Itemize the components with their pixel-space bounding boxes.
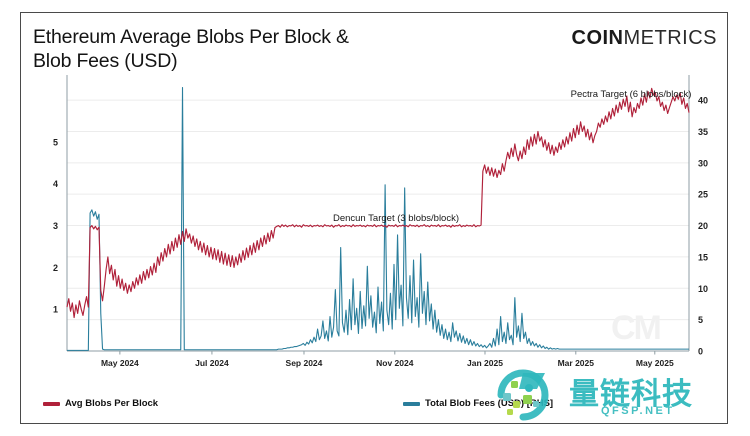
svg-text:5: 5 bbox=[698, 315, 703, 325]
line-chart: 12345 0510152025303540 May 2024Jul 2024S… bbox=[21, 69, 727, 381]
svg-text:20: 20 bbox=[698, 221, 708, 231]
plot-area: 12345 0510152025303540 May 2024Jul 2024S… bbox=[21, 69, 727, 381]
chart-legend: Avg Blobs Per Block Total Blob Fees (USD… bbox=[21, 397, 727, 417]
svg-text:35: 35 bbox=[698, 127, 708, 137]
legend-item-blob-fees[interactable]: Total Blob Fees (USD) [RHS] bbox=[403, 398, 553, 409]
svg-text:Nov 2024: Nov 2024 bbox=[376, 358, 414, 368]
svg-text:Jul 2024: Jul 2024 bbox=[195, 358, 229, 368]
svg-text:2: 2 bbox=[53, 263, 58, 273]
page-title: Ethereum Average Blobs Per Block & Blob … bbox=[33, 25, 463, 73]
svg-text:1: 1 bbox=[53, 305, 58, 315]
svg-text:Pectra Target (6 blobs/block): Pectra Target (6 blobs/block) bbox=[571, 89, 692, 100]
x-axis-ticks: May 2024Jul 2024Sep 2024Nov 2024Jan 2025… bbox=[101, 351, 674, 368]
chart-annotations: Dencun Target (3 blobs/block)Pectra Targ… bbox=[333, 89, 691, 224]
svg-text:25: 25 bbox=[698, 190, 708, 200]
svg-text:Jan 2025: Jan 2025 bbox=[467, 358, 503, 368]
svg-text:May 2024: May 2024 bbox=[101, 358, 139, 368]
y-axis-right-ticks: 0510152025303540 bbox=[698, 96, 708, 357]
svg-text:40: 40 bbox=[698, 96, 708, 106]
chart-card: Ethereum Average Blobs Per Block & Blob … bbox=[20, 12, 728, 424]
chart-header: Ethereum Average Blobs Per Block & Blob … bbox=[21, 13, 727, 75]
legend-item-avg-blobs[interactable]: Avg Blobs Per Block bbox=[43, 398, 158, 409]
svg-text:Dencun Target (3 blobs/block): Dencun Target (3 blobs/block) bbox=[333, 213, 459, 224]
svg-text:May 2025: May 2025 bbox=[636, 358, 674, 368]
svg-text:15: 15 bbox=[698, 252, 708, 262]
svg-text:4: 4 bbox=[53, 179, 58, 189]
svg-text:30: 30 bbox=[698, 158, 708, 168]
logo-bold-text: COIN bbox=[572, 27, 624, 49]
legend-swatch-blue bbox=[403, 402, 420, 406]
svg-text:0: 0 bbox=[698, 347, 703, 357]
svg-text:3: 3 bbox=[53, 221, 58, 231]
svg-text:5: 5 bbox=[53, 137, 58, 147]
legend-label-avg-blobs: Avg Blobs Per Block bbox=[65, 398, 158, 409]
y-axis-left-ticks: 12345 bbox=[53, 137, 58, 314]
legend-swatch-red bbox=[43, 402, 60, 406]
coinmetrics-logo: COINMETRICS bbox=[572, 27, 718, 50]
legend-label-blob-fees: Total Blob Fees (USD) [RHS] bbox=[425, 398, 553, 409]
svg-text:10: 10 bbox=[698, 284, 708, 294]
logo-light-text: METRICS bbox=[624, 27, 718, 49]
svg-text:Sep 2024: Sep 2024 bbox=[286, 358, 323, 368]
series-avg-blobs-per-block bbox=[67, 88, 689, 317]
svg-text:Mar 2025: Mar 2025 bbox=[558, 358, 595, 368]
